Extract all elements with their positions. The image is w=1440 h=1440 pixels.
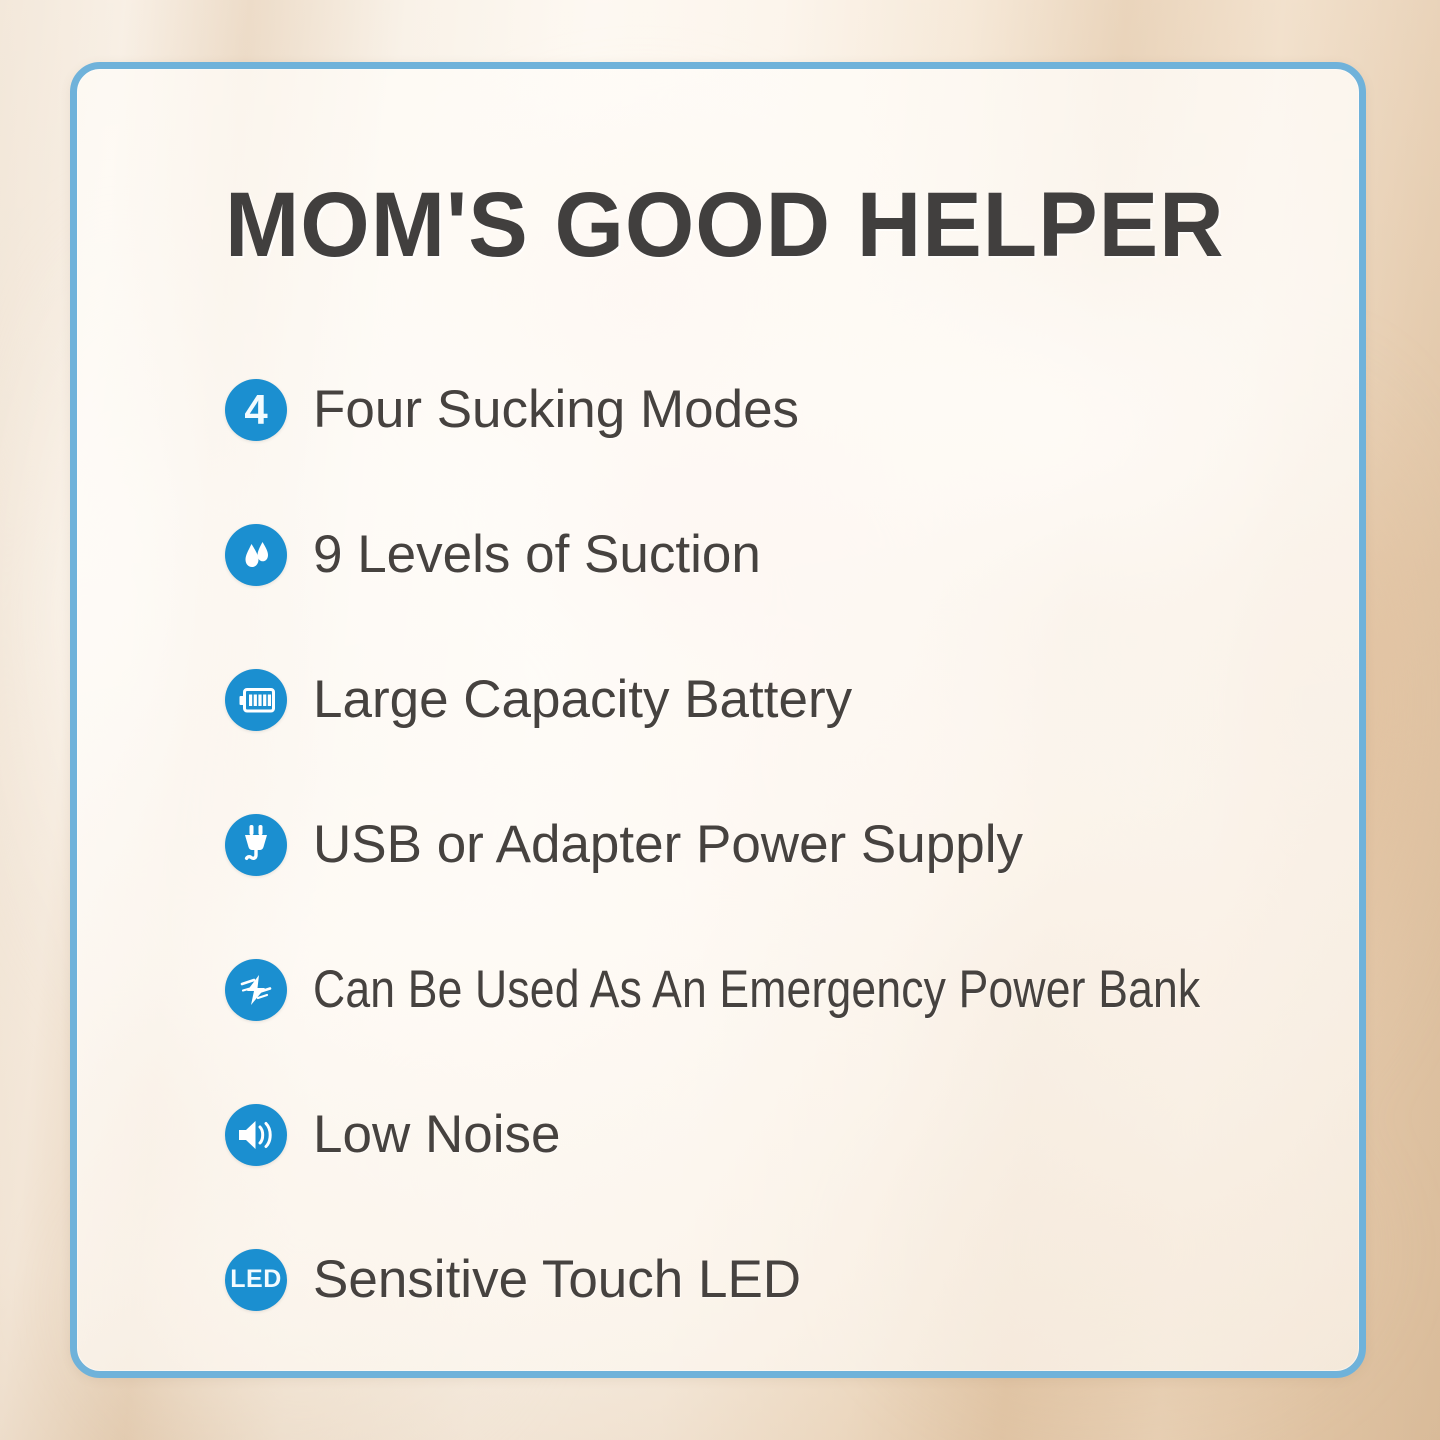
led-icon: LED	[225, 1249, 287, 1311]
feature-label: Can Be Used As An Emergency Power Bank	[313, 962, 1200, 1018]
list-item: Large Capacity Battery	[225, 627, 1365, 772]
feature-label: Sensitive Touch LED	[313, 1252, 801, 1308]
page-title: MOM'S GOOD HELPER	[225, 179, 1225, 271]
battery-icon	[225, 669, 287, 731]
list-item: USB or Adapter Power Supply	[225, 772, 1365, 917]
list-item: Can Be Used As An Emergency Power Bank	[225, 917, 1365, 1062]
power-plug-icon	[225, 814, 287, 876]
number-four-icon-label: 4	[244, 389, 267, 431]
milk-droplets-icon	[225, 524, 287, 586]
lightning-bolt-icon	[225, 959, 287, 1021]
feature-label: Large Capacity Battery	[313, 672, 852, 728]
feature-label: Low Noise	[313, 1107, 560, 1163]
number-four-icon: 4	[225, 379, 287, 441]
feature-list: 4 Four Sucking Modes 9 Levels of Suction	[225, 337, 1365, 1352]
product-feature-poster: MOM'S GOOD HELPER 4 Four Sucking Modes 9…	[0, 0, 1440, 1440]
list-item: 9 Levels of Suction	[225, 482, 1365, 627]
list-item: 4 Four Sucking Modes	[225, 337, 1365, 482]
speaker-volume-icon	[225, 1104, 287, 1166]
list-item: Low Noise	[225, 1062, 1365, 1207]
list-item: LED Sensitive Touch LED	[225, 1207, 1365, 1352]
led-icon-label: LED	[230, 1267, 282, 1292]
feature-label: 9 Levels of Suction	[313, 527, 761, 583]
feature-card-frame: MOM'S GOOD HELPER 4 Four Sucking Modes 9…	[70, 62, 1366, 1378]
feature-label: Four Sucking Modes	[313, 382, 799, 438]
feature-label: USB or Adapter Power Supply	[313, 817, 1023, 873]
